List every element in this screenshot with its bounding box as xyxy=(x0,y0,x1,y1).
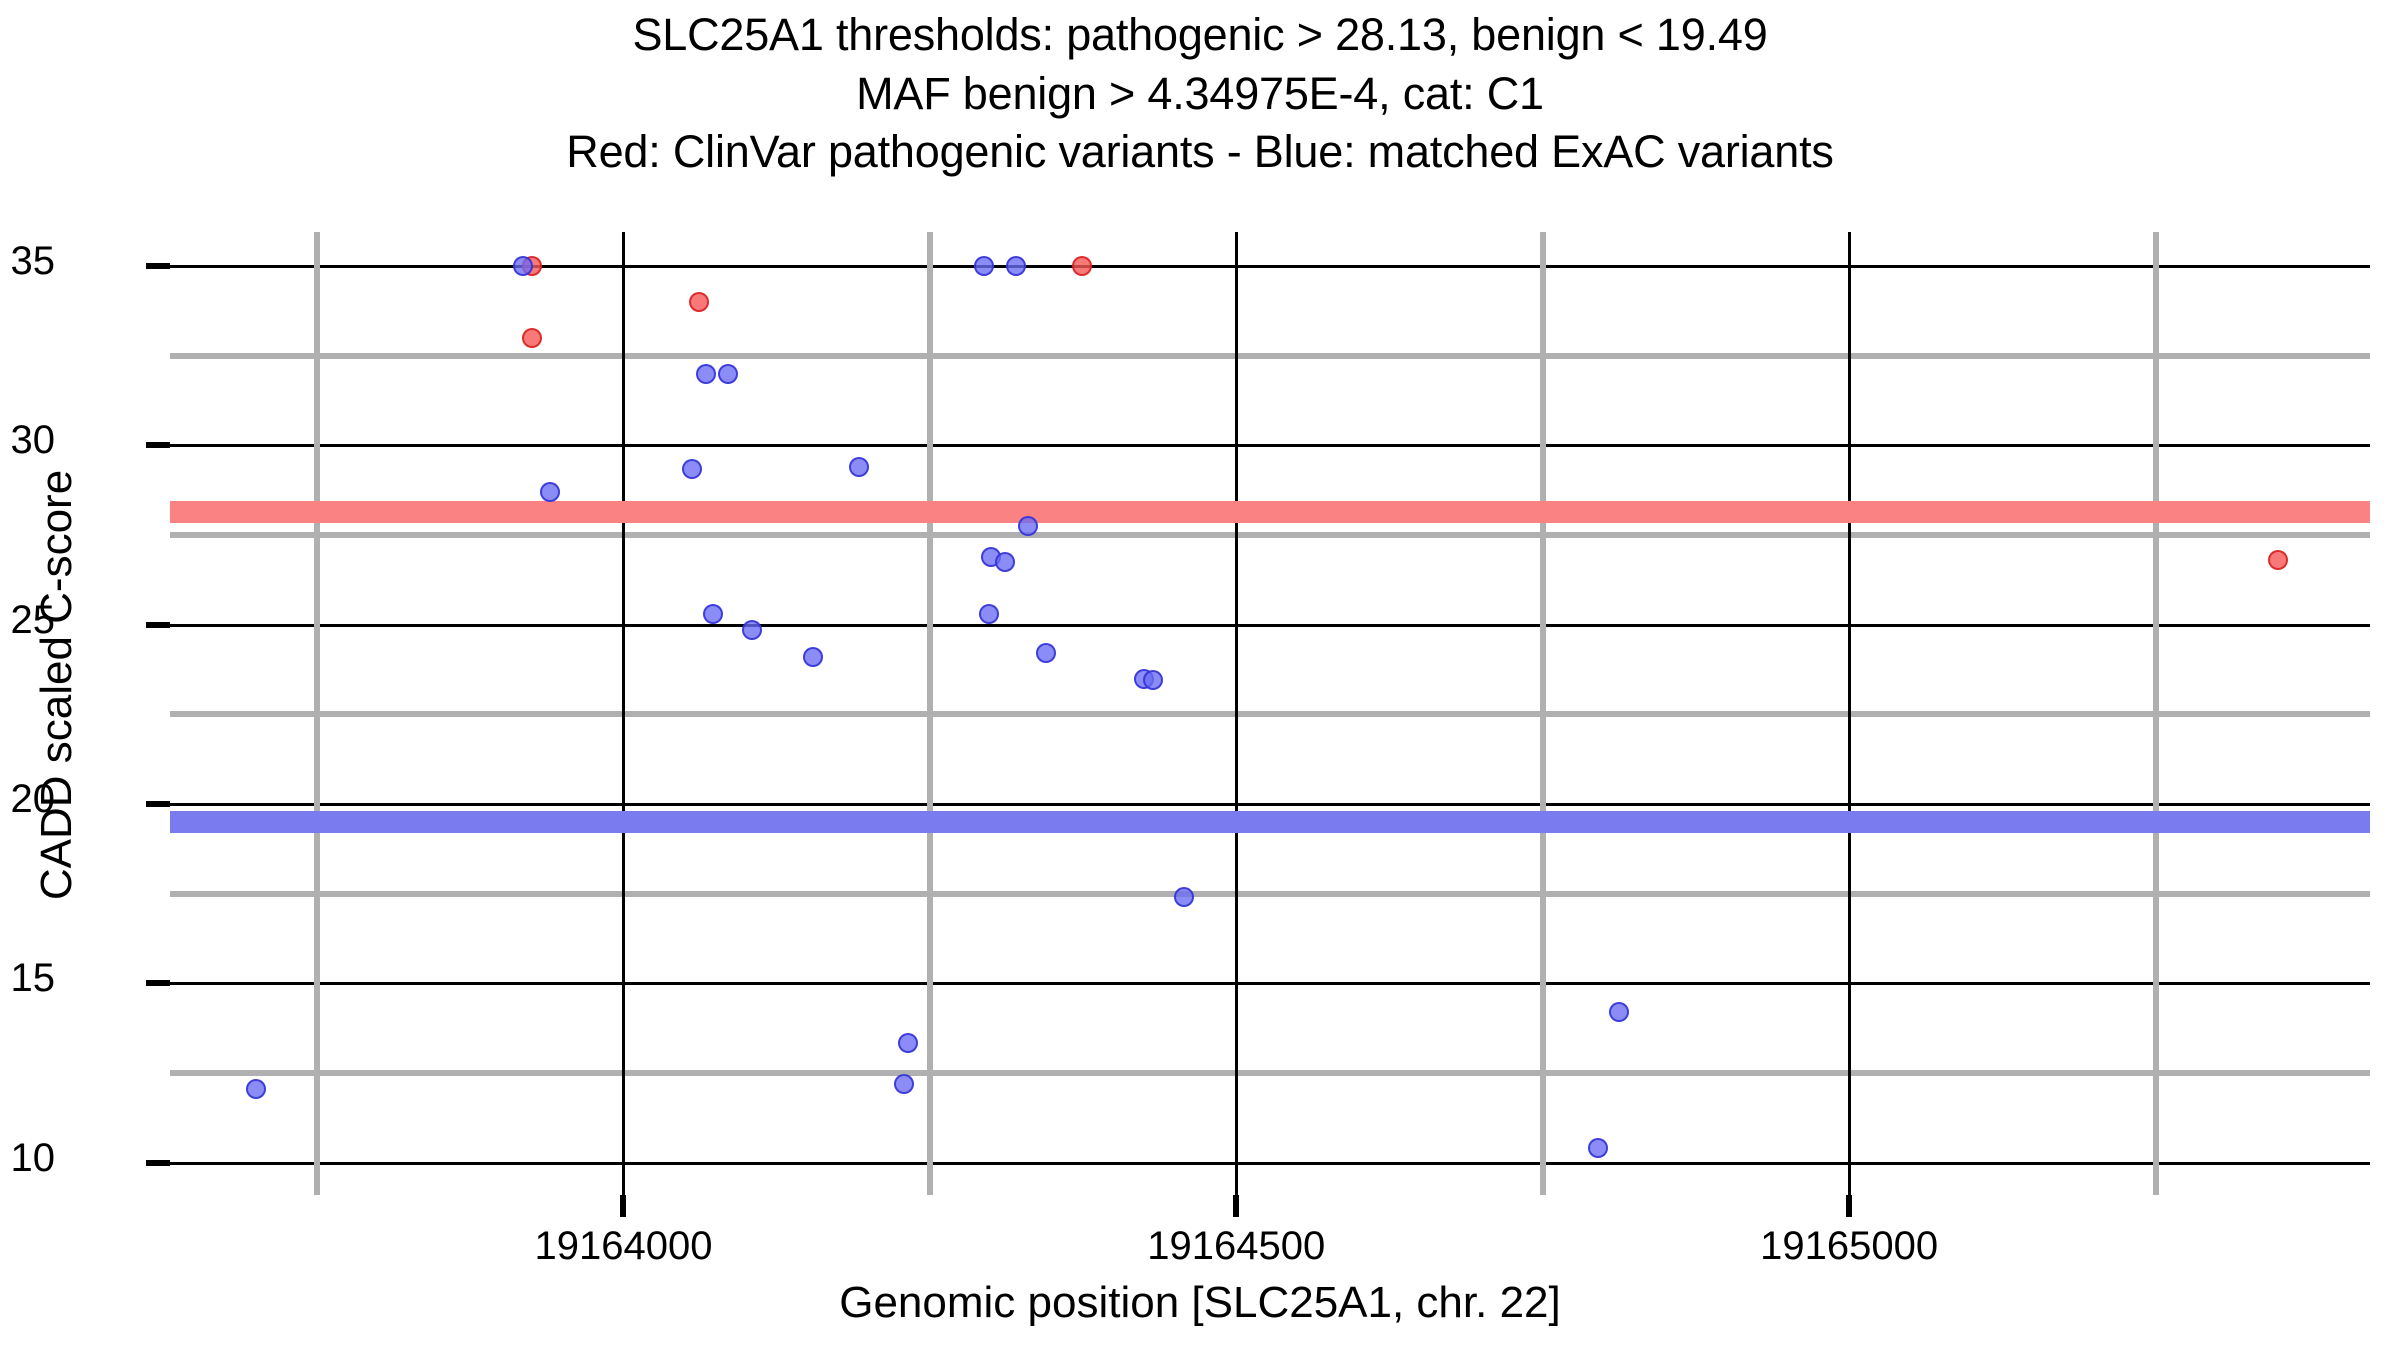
x-tick-label: 19164500 xyxy=(1147,1224,1325,1269)
benign-point xyxy=(974,256,994,276)
gridline-h-major xyxy=(170,803,2370,806)
gridline-h-major xyxy=(170,1162,2370,1165)
y-tick-mark xyxy=(146,801,170,807)
pathogenic-threshold-band xyxy=(170,501,2370,523)
pathogenic-point xyxy=(689,292,709,312)
gridline-h-minor xyxy=(170,1070,2370,1076)
gridline-h-major xyxy=(170,982,2370,985)
pathogenic-point xyxy=(2268,550,2288,570)
benign-point xyxy=(1609,1002,1629,1022)
benign-point xyxy=(718,364,738,384)
benign-point xyxy=(513,256,533,276)
x-tick-label: 19164000 xyxy=(534,1224,712,1269)
gridline-v-minor xyxy=(927,232,933,1195)
y-tick-label: 10 xyxy=(11,1136,56,1181)
gridline-h-minor xyxy=(170,891,2370,897)
chart-title-line-3: Red: ClinVar pathogenic variants - Blue:… xyxy=(0,123,2400,182)
benign-point xyxy=(540,482,560,502)
y-tick-mark xyxy=(146,622,170,628)
benign-point xyxy=(1006,256,1026,276)
x-tick-mark xyxy=(1233,1195,1239,1217)
benign-point xyxy=(849,457,869,477)
benign-threshold-band xyxy=(170,811,2370,833)
gridline-h-major xyxy=(170,624,2370,627)
benign-point xyxy=(742,620,762,640)
gridline-h-minor xyxy=(170,353,2370,359)
benign-point xyxy=(696,364,716,384)
plot-clip xyxy=(170,232,2370,1195)
gridline-v-major xyxy=(622,232,625,1195)
y-tick-mark xyxy=(146,263,170,269)
gridline-h-minor xyxy=(170,711,2370,717)
benign-point xyxy=(894,1074,914,1094)
benign-point xyxy=(1143,670,1163,690)
y-tick-mark xyxy=(146,980,170,986)
benign-point xyxy=(1036,643,1056,663)
y-tick-mark xyxy=(146,1160,170,1166)
gridline-h-major xyxy=(170,444,2370,447)
benign-point xyxy=(995,552,1015,572)
y-axis-label: CADD scaled C-score xyxy=(32,285,82,1085)
benign-point xyxy=(803,647,823,667)
gridline-v-minor xyxy=(314,232,320,1195)
gridline-v-minor xyxy=(1540,232,1546,1195)
gridline-v-major xyxy=(1848,232,1851,1195)
cadd-scatter-figure: SLC25A1 thresholds: pathogenic > 28.13, … xyxy=(0,0,2400,1350)
chart-title: SLC25A1 thresholds: pathogenic > 28.13, … xyxy=(0,6,2400,182)
benign-point xyxy=(1018,516,1038,536)
benign-point xyxy=(246,1079,266,1099)
gridline-h-minor xyxy=(170,532,2370,538)
gridline-v-major xyxy=(1235,232,1238,1195)
pathogenic-point xyxy=(522,328,542,348)
benign-point xyxy=(682,459,702,479)
benign-point xyxy=(898,1033,918,1053)
y-tick-mark xyxy=(146,442,170,448)
gridline-v-minor xyxy=(2153,232,2159,1195)
gridline-h-major xyxy=(170,265,2370,268)
y-tick-label: 35 xyxy=(11,239,56,284)
x-tick-mark xyxy=(620,1195,626,1217)
benign-point xyxy=(1174,887,1194,907)
chart-title-line-2: MAF benign > 4.34975E-4, cat: C1 xyxy=(0,65,2400,124)
x-axis-label: Genomic position [SLC25A1, chr. 22] xyxy=(0,1278,2400,1328)
x-tick-label: 19165000 xyxy=(1760,1224,1938,1269)
x-tick-mark xyxy=(1846,1195,1852,1217)
chart-title-line-1: SLC25A1 thresholds: pathogenic > 28.13, … xyxy=(0,6,2400,65)
benign-point xyxy=(1588,1138,1608,1158)
pathogenic-point xyxy=(1072,256,1092,276)
benign-point xyxy=(703,604,723,624)
benign-point xyxy=(979,604,999,624)
plot-area xyxy=(170,232,2370,1195)
